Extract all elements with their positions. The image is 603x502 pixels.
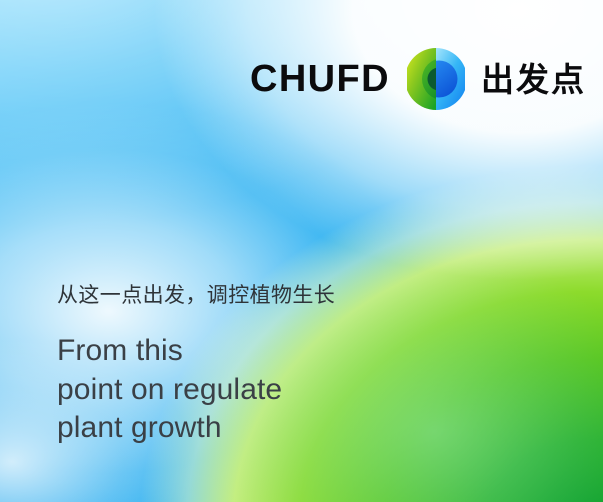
chufd-circle-logo-icon bbox=[407, 47, 465, 111]
brand-lockup: CHUFD bbox=[250, 46, 586, 112]
tagline-chinese: 从这一点出发，调控植物生长 bbox=[57, 282, 397, 308]
brand-banner: CHUFD bbox=[0, 0, 603, 502]
tagline-english-line-1: From this bbox=[57, 332, 397, 370]
tagline-english-line-3: plant growth bbox=[57, 409, 397, 447]
brand-chinese-name: 出发点 bbox=[481, 63, 586, 96]
tagline-block: 从这一点出发，调控植物生长 From this point on regulat… bbox=[57, 282, 397, 447]
brand-wordmark: CHUFD bbox=[250, 60, 390, 98]
tagline-english-line-2: point on regulate bbox=[57, 371, 397, 409]
tagline-english: From this point on regulate plant growth bbox=[57, 332, 397, 447]
